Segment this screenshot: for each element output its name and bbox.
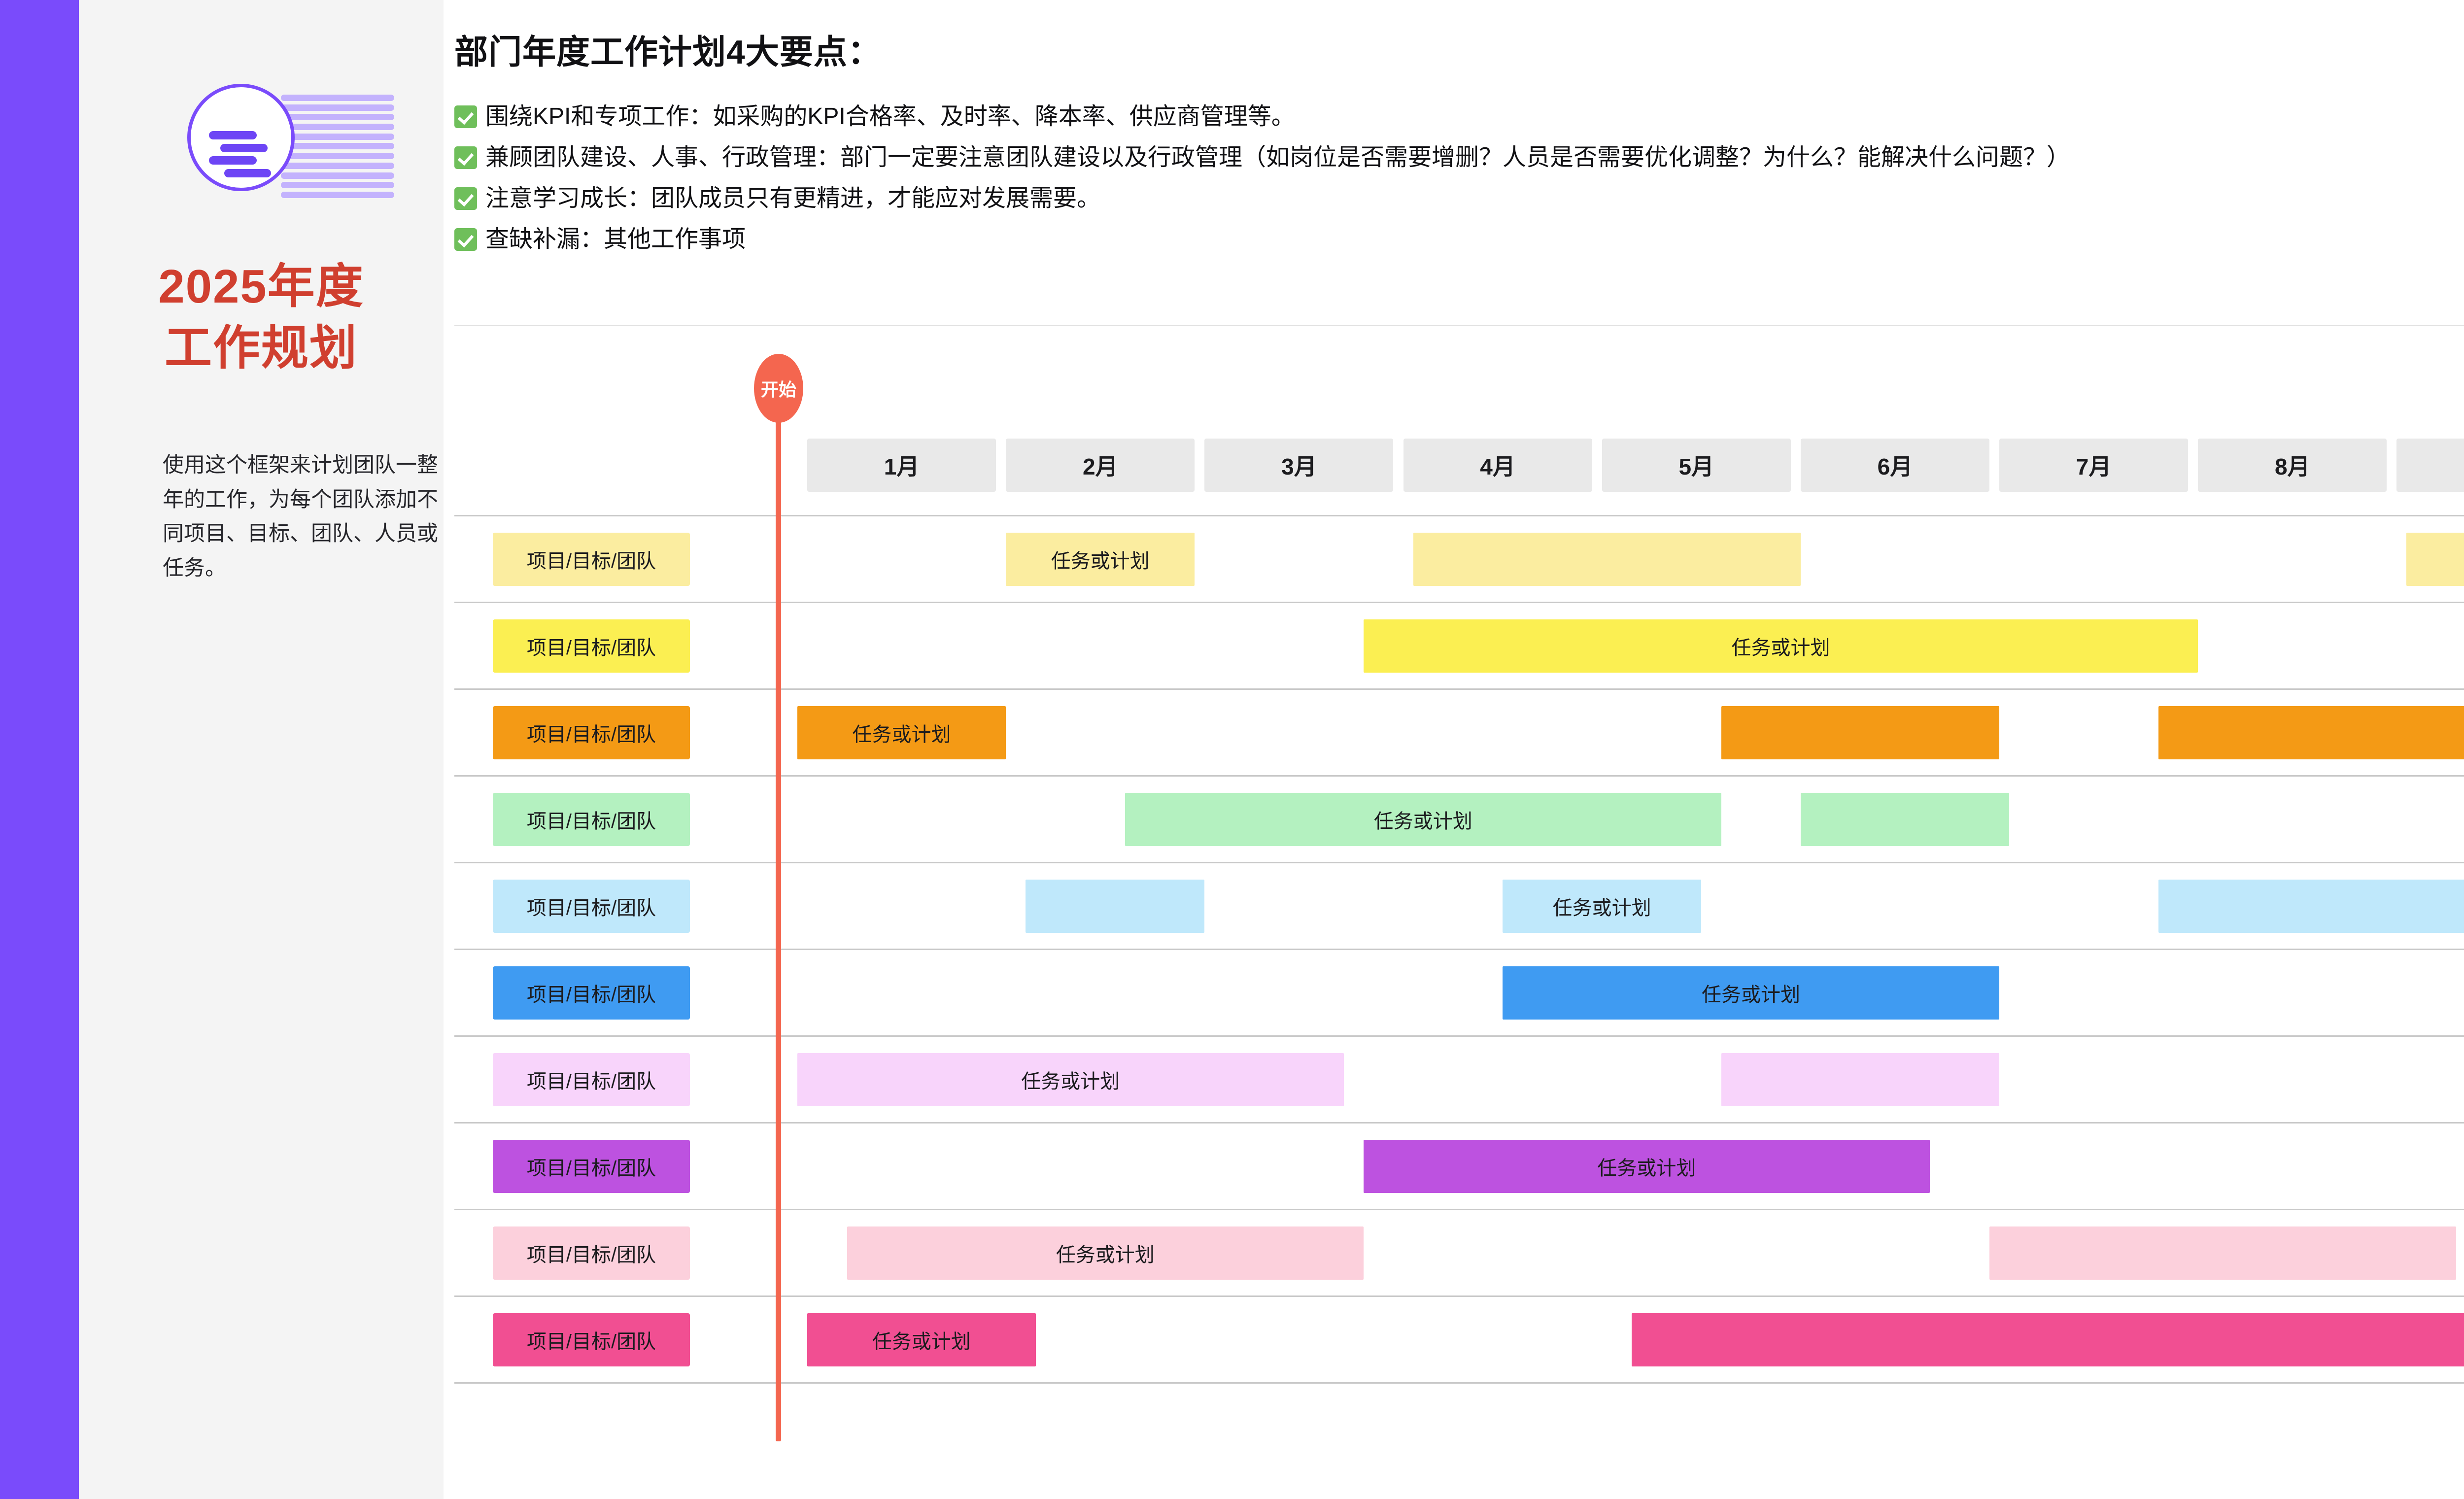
gantt-task-bar[interactable]	[1989, 1226, 2456, 1280]
month-header-label: 2月	[1083, 449, 1118, 481]
gantt-task-bar[interactable]: 任务或计划	[807, 1313, 1036, 1366]
month-header-label: 3月	[1281, 449, 1317, 481]
left-accent-strip	[0, 0, 79, 1499]
month-header-4[interactable]: 4月	[1403, 439, 1592, 492]
month-header-9[interactable]: 9月	[2396, 439, 2464, 492]
month-header-label: 5月	[1678, 449, 1714, 481]
gantt-row: 项目/目标/团队任务或计划	[454, 863, 2464, 950]
gantt-row: 项目/目标/团队任务或计划	[454, 777, 2464, 863]
section-divider	[454, 325, 2464, 326]
gantt-task-bar[interactable]: 任务或计划	[797, 706, 1006, 759]
gantt-row: 项目/目标/团队任务或计划	[454, 603, 2464, 690]
gantt-task-bar[interactable]	[2158, 706, 2464, 759]
page-root: 2025年度 工作规划 使用这个框架来计划团队一整年的工作，为每个团队添加不同项…	[0, 0, 2464, 1499]
list-item: 注意学习成长：团队成员只有更精进，才能应对发展需要。	[454, 185, 2464, 216]
gantt-row-label[interactable]: 项目/目标/团队	[493, 1313, 690, 1366]
brand-title: 2025年度 工作规划	[79, 256, 444, 379]
list-item-label: 围绕KPI和专项工作：如采购的KPI合格率、及时率、降本率、供应商管理等。	[485, 103, 1295, 130]
gantt-row: 项目/目标/团队任务或计划	[454, 1037, 2464, 1124]
logo-bars-icon	[182, 84, 295, 191]
gantt-task-bar[interactable]	[1026, 880, 1204, 933]
gantt-row: 项目/目标/团队任务或计划	[454, 950, 2464, 1037]
gantt-row-label[interactable]: 项目/目标/团队	[493, 619, 690, 673]
gantt-task-bar[interactable]	[1413, 533, 1801, 586]
list-item: 围绕KPI和专项工作：如采购的KPI合格率、及时率、降本率、供应商管理等。	[454, 103, 2464, 134]
sidebar-description: 使用这个框架来计划团队一整年的工作，为每个团队添加不同项目、目标、团队、人员或任…	[163, 448, 439, 586]
logo-stripes-decoration	[281, 95, 394, 198]
gantt-row-label[interactable]: 项目/目标/团队	[493, 706, 690, 759]
gantt-task-bar[interactable]	[1721, 1053, 1999, 1106]
gantt-task-bar[interactable]: 任务或计划	[1125, 793, 1721, 846]
gantt-task-bar-label: 任务或计划	[1374, 805, 1472, 834]
brand-title-line2: 工作规划	[79, 318, 444, 379]
gantt-task-bar[interactable]: 任务或计划	[847, 1226, 1364, 1280]
check-icon	[454, 187, 477, 210]
gantt-task-bar[interactable]	[1632, 1313, 2464, 1366]
list-item: 查缺补漏：其他工作事项	[454, 226, 2464, 257]
month-header-6[interactable]: 6月	[1801, 439, 1989, 492]
gantt-task-bar[interactable]	[2406, 533, 2464, 586]
month-header-2[interactable]: 2月	[1006, 439, 1195, 492]
list-item: 兼顾团队建设、人事、行政管理：部门一定要注意团队建设以及行政管理（如岗位是否需要…	[454, 144, 2464, 175]
start-marker-pin[interactable]: 开始	[754, 354, 803, 423]
list-item-label: 注意学习成长：团队成员只有更精进，才能应对发展需要。	[485, 185, 1100, 212]
gantt-task-bar[interactable]	[2158, 880, 2464, 933]
gantt-task-bar-label: 任务或计划	[1597, 1152, 1696, 1181]
gantt-row: 项目/目标/团队任务或计划	[454, 690, 2464, 777]
gantt-logo-icon	[182, 84, 419, 207]
gantt-task-bar-label: 任务或计划	[852, 718, 951, 747]
gantt-task-bar-label: 任务或计划	[1056, 1239, 1155, 1267]
month-header-label: 7月	[2076, 449, 2112, 481]
gantt-task-bar[interactable]: 任务或计划	[1503, 966, 1999, 1020]
check-icon	[454, 105, 477, 128]
gantt-task-bar[interactable]	[1721, 706, 1999, 759]
gantt-task-bar[interactable]: 任务或计划	[1503, 880, 1701, 933]
gantt-task-bar-label: 任务或计划	[1051, 545, 1150, 574]
month-header-label: 8月	[2275, 449, 2310, 481]
gantt-row-label[interactable]: 项目/目标/团队	[493, 880, 690, 933]
brand-title-line1: 2025年度	[79, 256, 444, 318]
month-header-5[interactable]: 5月	[1602, 439, 1791, 492]
gantt-task-bar-label: 任务或计划	[1021, 1065, 1120, 1094]
month-header-label: 6月	[1878, 449, 1913, 481]
month-header-1[interactable]: 1月	[807, 439, 996, 492]
gantt-task-bar-label: 任务或计划	[1702, 979, 1800, 1007]
gantt-row-label[interactable]: 项目/目标/团队	[493, 533, 690, 586]
gantt-task-bar-label: 任务或计划	[1553, 892, 1651, 920]
main-content: 部门年度工作计划4大要点： 围绕KPI和专项工作：如采购的KPI合格率、及时率、…	[444, 0, 2464, 1499]
month-header-8[interactable]: 8月	[2198, 439, 2387, 492]
gantt-task-bar[interactable]: 任务或计划	[1364, 619, 2198, 673]
gantt-task-bar[interactable]: 任务或计划	[797, 1053, 1344, 1106]
month-header-row: 1月2月3月4月5月6月7月8月9月10月11月12月	[454, 439, 2464, 492]
list-item-label: 查缺补漏：其他工作事项	[485, 226, 746, 253]
month-header-3[interactable]: 3月	[1204, 439, 1393, 492]
gantt-row-label[interactable]: 项目/目标/团队	[493, 1140, 690, 1193]
check-icon	[454, 228, 477, 251]
gantt-row: 项目/目标/团队任务或计划	[454, 1210, 2464, 1297]
gantt-task-bar[interactable]	[1801, 793, 2009, 846]
gantt-row-label[interactable]: 项目/目标/团队	[493, 966, 690, 1020]
gantt-row: 项目/目标/团队任务或计划	[454, 515, 2464, 603]
gantt-task-bar[interactable]: 任务或计划	[1364, 1140, 1930, 1193]
check-icon	[454, 146, 477, 169]
sidebar: 2025年度 工作规划 使用这个框架来计划团队一整年的工作，为每个团队添加不同项…	[79, 0, 444, 1499]
page-title: 部门年度工作计划4大要点：	[454, 25, 882, 73]
list-item-label: 兼顾团队建设、人事、行政管理：部门一定要注意团队建设以及行政管理（如岗位是否需要…	[485, 144, 2070, 171]
gantt-task-bar-label: 任务或计划	[872, 1326, 971, 1354]
start-marker-line	[776, 362, 781, 1441]
month-header-label: 1月	[884, 449, 920, 481]
gantt-row-label[interactable]: 项目/目标/团队	[493, 1226, 690, 1280]
gantt-task-bar-label: 任务或计划	[1732, 632, 1830, 660]
month-header-7[interactable]: 7月	[1999, 439, 2188, 492]
key-points-list: 围绕KPI和专项工作：如采购的KPI合格率、及时率、降本率、供应商管理等。 兼顾…	[454, 103, 2464, 267]
gantt-row: 项目/目标/团队任务或计划	[454, 1297, 2464, 1384]
gantt-row-label[interactable]: 项目/目标/团队	[493, 793, 690, 846]
gantt-rows: 项目/目标/团队任务或计划项目/目标/团队任务或计划项目/目标/团队任务或计划项…	[454, 515, 2464, 1384]
month-header-label: 4月	[1480, 449, 1515, 481]
gantt-chart: 开始 1月2月3月4月5月6月7月8月9月10月11月12月 项目/目标/团队任…	[454, 345, 2464, 1449]
gantt-task-bar[interactable]: 任务或计划	[1006, 533, 1195, 586]
gantt-row: 项目/目标/团队任务或计划	[454, 1124, 2464, 1210]
gantt-row-label[interactable]: 项目/目标/团队	[493, 1053, 690, 1106]
